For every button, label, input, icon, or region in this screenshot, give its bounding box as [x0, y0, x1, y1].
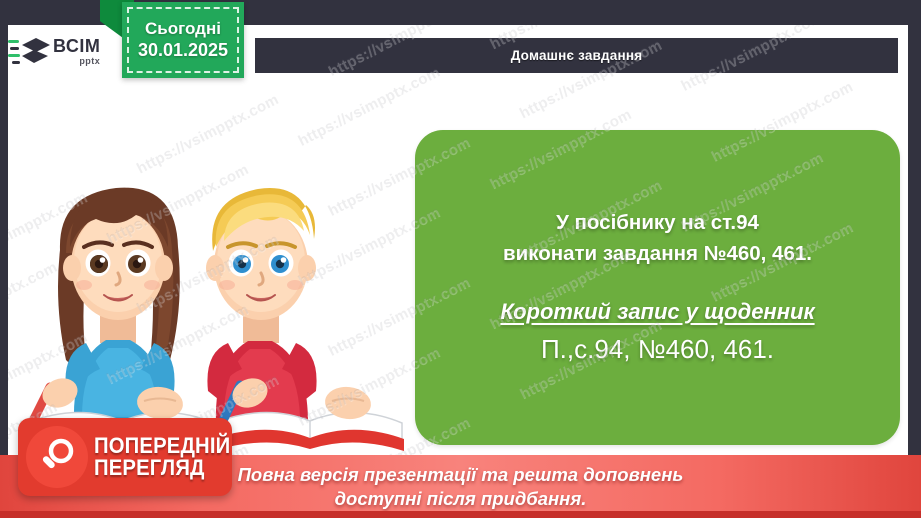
illustration-two-children-writing: [18, 155, 418, 455]
brand-logo[interactable]: ВСІМ pptx: [8, 28, 106, 74]
today-label: Сьогодні: [145, 18, 221, 39]
watermark-text: https://vsimpptx.com: [296, 63, 443, 149]
card-line-3-diary-note: Короткий запис у щоденник: [500, 296, 814, 328]
preview-badge[interactable]: ПОПЕРЕДНІЙ ПЕРЕГЛЯД: [18, 418, 232, 496]
banner-line-1: Повна версія презентації та решта доповн…: [238, 463, 684, 487]
card-line-2: виконати завдання №460, 461.: [503, 239, 812, 270]
preview-label-line-2: ПЕРЕГЛЯД: [94, 457, 230, 479]
preview-label-line-1: ПОПЕРЕДНІЙ: [94, 435, 230, 457]
banner-line-2: доступні після придбання.: [335, 487, 587, 511]
card-line-1: У посібнику на ст.94: [556, 208, 759, 239]
today-date: 30.01.2025: [138, 39, 228, 62]
homework-card: У посібнику на ст.94 виконати завдання №…: [415, 130, 900, 445]
slide-root: У посібнику на ст.94 виконати завдання №…: [0, 0, 921, 518]
slide-title-bar: Домашнє завдання: [255, 38, 898, 73]
slide-title: Домашнє завдання: [511, 48, 643, 63]
card-line-4-short-note: П.,с.94, №460, 461.: [541, 332, 774, 367]
graduation-cap-icon: [8, 34, 50, 68]
brand-subtitle: pptx: [53, 57, 100, 66]
brand-name: ВСІМ: [53, 37, 100, 55]
magnifier-icon: [26, 426, 88, 488]
today-date-badge: Сьогодні 30.01.2025: [122, 2, 244, 78]
